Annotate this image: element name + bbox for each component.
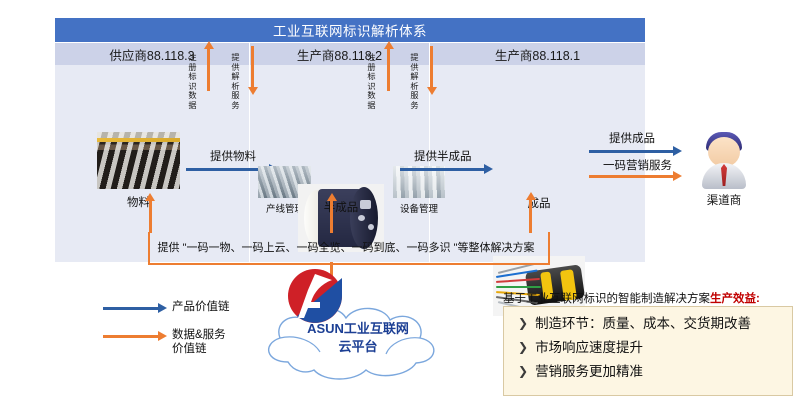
caption-channel-dealer: 渠道商 [698,192,750,208]
panel-title-bar: 工业互联网标识解析体系 [55,18,645,42]
flow-label-register-id-data-2: 注册标识数据 [365,53,378,111]
benefit-item: ❯ 营销服务更加精准 [518,363,782,380]
flow-arrow-supply-semi [400,168,484,171]
benefit-item: ❯ 制造环节：质量、成本、交货期改善 [518,315,782,332]
legend-arrow-product-value-chain [103,307,158,310]
identity-resolution-panel: 工业互联网标识解析体系 供应商88.118.3 生产商88.118.2 生产商8… [55,18,645,262]
flow-label-resolve-service-1: 提供解析服务 [229,53,242,111]
column-header-producer-2: 生产商88.118.2 [250,44,429,64]
flow-arrow-register-id-data-2 [387,48,390,91]
benefit-item-label: 市场响应速度提升 [535,339,643,356]
column-header-supplier: 供应商88.118.3 [55,44,249,64]
flow-label-onecode-marketing: 一码营销服务 [603,157,672,173]
arrow-box-to-semi-finished [330,200,333,233]
benefit-item-label: 制造环节：质量、成本、交货期改善 [535,315,751,332]
benefits-heading: 基于工业互联网标识的智能制造解决方案生产效益: [503,290,760,306]
flow-arrow-supply-material [186,168,269,171]
avatar-channel-dealer [700,128,748,192]
asun-logo [287,268,343,324]
caption-equipment-management: 设备管理 [386,201,452,215]
benefits-heading-accent: 生产效益: [710,293,760,305]
flow-label-supply-finished: 提供成品 [609,130,655,146]
flow-label-resolve-service-2: 提供解析服务 [408,53,421,111]
photo-material [97,132,180,189]
chevron-right-icon: ❯ [518,363,528,380]
benefit-item: ❯ 市场响应速度提升 [518,339,782,356]
column-header-producer-1: 生产商88.118.1 [430,44,645,64]
drum-hole-a [358,215,365,221]
flow-arrow-supply-finished [589,150,673,153]
cloud-label-line-2: 云平台 [258,338,458,356]
caption-material: 物料 [97,194,180,210]
arrow-box-to-finished [529,199,532,233]
photo-equipment-management [393,166,445,198]
benefit-item-label: 营销服务更加精准 [535,363,643,380]
flow-arrow-register-id-data-1 [207,48,210,91]
flow-label-register-id-data-1: 注册标识数据 [186,53,199,111]
flow-arrow-resolve-service-2 [430,46,433,88]
caption-semi-finished: 半成品 [298,199,384,215]
flow-label-supply-semi: 提供半成品 [414,148,472,164]
page-title: 工业互联网标识解析体系 [273,20,427,40]
flow-arrow-resolve-service-1 [251,46,254,88]
legend-label-data-service-chain: 数据&服务价值链 [172,328,252,356]
fiber-strand [496,286,541,288]
cloud-platform-label: ASUN工业互联网 云平台 [258,320,458,356]
benefits-heading-plain: 基于工业互联网标识的智能制造解决方案 [503,293,710,305]
arrow-box-to-material [149,200,152,233]
benefits-box: ❯ 制造环节：质量、成本、交货期改善 ❯ 市场响应速度提升 ❯ 营销服务更加精准 [503,306,793,396]
caption-finished-product: 成品 [493,195,585,211]
solution-box-text: 提供 "一码一物、一码上云、一码全览、一码到底、一码多识 "等整体解决方案 [150,239,542,255]
legend-arrow-data-service-chain [103,335,158,338]
chevron-right-icon: ❯ [518,315,528,332]
chevron-right-icon: ❯ [518,339,528,356]
flow-arrow-onecode-marketing [589,175,673,178]
drum-hole-b [368,224,374,230]
flow-label-supply-material: 提供物料 [210,148,256,164]
legend-label-product-value-chain: 产品价值链 [172,300,230,314]
